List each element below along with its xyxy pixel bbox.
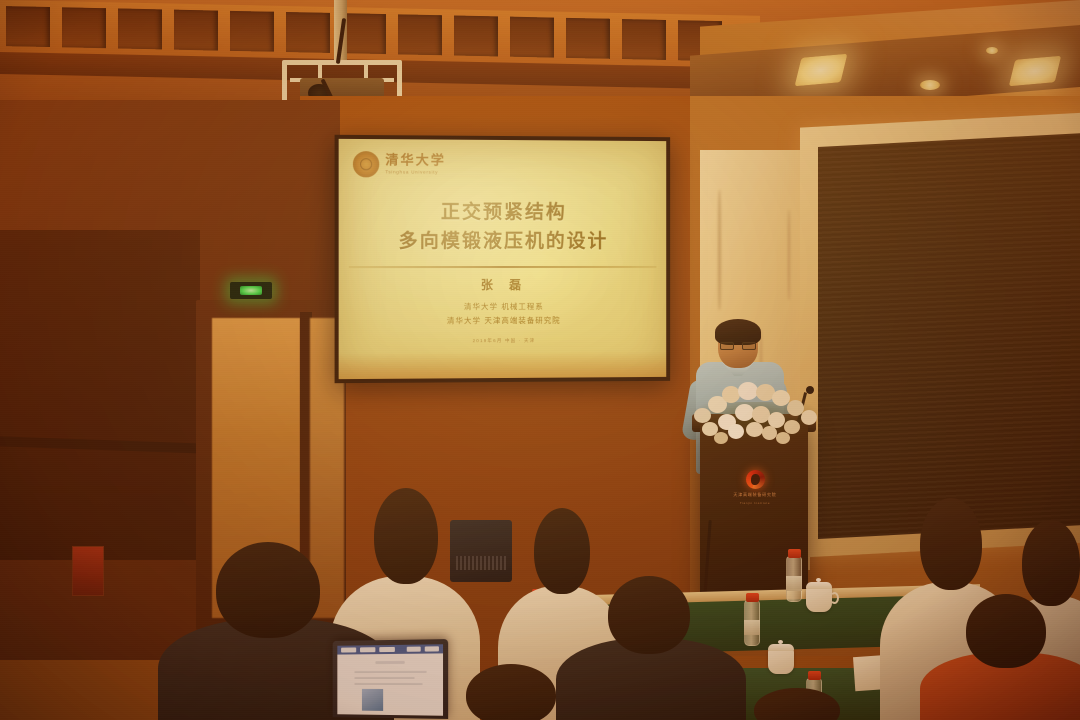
audience-head xyxy=(608,576,690,654)
podium-logo-chinese: 天津高端装备研究院 xyxy=(733,492,776,498)
slide-affiliation-1: 清华大学 机械工程系 xyxy=(339,300,667,315)
presentation-slide: 清华大学 Tsinghua University 正交预紧结构 多向模锻液压机的… xyxy=(339,139,667,379)
page-thumbnail xyxy=(362,689,383,711)
teacup xyxy=(806,586,832,612)
slide-title: 正交预紧结构 多向模锻液压机的设计 xyxy=(339,197,667,256)
bottle-label xyxy=(744,620,760,635)
ceiling-light-panel-2 xyxy=(1009,56,1061,87)
logo-chinese-name: 清华大学 xyxy=(385,154,446,167)
ceiling-light-panel-1 xyxy=(795,54,848,87)
audience-member-orange xyxy=(920,594,1080,720)
slide-affiliation-2: 清华大学 天津高端装备研究院 xyxy=(339,314,667,329)
projection-screen: 清华大学 Tsinghua University 正交预紧结构 多向模锻液压机的… xyxy=(339,139,667,379)
audience-head xyxy=(754,688,840,720)
bottle-cap xyxy=(788,549,801,558)
slide-title-line-1: 正交预紧结构 xyxy=(339,197,667,227)
audience-member-partial-2 xyxy=(744,688,854,720)
tsinghua-seal-icon xyxy=(353,151,379,177)
teacup xyxy=(768,648,794,674)
podium-logo-english: Tianjin Institute xyxy=(740,501,770,505)
slide-divider xyxy=(349,266,657,268)
logo-english-name: Tsinghua University xyxy=(385,170,446,175)
slide-affiliations: 清华大学 机械工程系 清华大学 天津高端装备研究院 xyxy=(339,300,667,330)
screen-bottom-glow xyxy=(339,351,667,379)
exit-sign xyxy=(230,282,272,299)
bottle-label xyxy=(786,576,802,591)
slide-presenter-name: 张 磊 xyxy=(339,276,667,293)
podium-logo: 天津高端装备研究院 Tianjin Institute xyxy=(737,470,773,510)
glasses-icon xyxy=(720,342,756,350)
conference-hall-photo: 清华大学 Tsinghua University 正交预紧结构 多向模锻液压机的… xyxy=(0,0,1080,720)
teacup-lid xyxy=(806,582,832,589)
wall-chair-rail-lower xyxy=(0,486,205,493)
wall-panel-texture xyxy=(818,133,1080,539)
slide-title-line-2: 多向模锻液压机的设计 xyxy=(339,227,667,257)
projection-screen-frame: 清华大学 Tsinghua University 正交预紧结构 多向模锻液压机的… xyxy=(335,135,671,383)
teacup-lid xyxy=(768,644,794,651)
audience-head xyxy=(466,664,556,720)
ceiling-downlight-2 xyxy=(986,47,998,54)
teacup-knob xyxy=(778,640,783,644)
audience-head xyxy=(966,594,1046,668)
audience-member-partial-1 xyxy=(452,664,572,720)
laptop-screen[interactable] xyxy=(337,644,443,716)
bottle-cap xyxy=(746,593,759,602)
teacup-knob xyxy=(816,578,821,582)
exit-sign-glow-icon xyxy=(240,286,262,295)
teacup-handle xyxy=(830,592,839,604)
wall-left-dark-panel xyxy=(0,230,200,560)
bottle-cap xyxy=(808,671,821,680)
audience-head xyxy=(920,498,982,590)
audience-head xyxy=(216,542,320,638)
open-laptop[interactable] xyxy=(330,640,450,720)
slide-date-line: 2019年6月 中国 · 天津 xyxy=(339,337,667,345)
university-logo: 清华大学 Tsinghua University xyxy=(353,151,446,178)
flame-swirl-icon xyxy=(746,470,765,489)
flower-arrangement xyxy=(688,378,824,444)
ceiling-downlight-1 xyxy=(920,80,940,90)
audience-member-black-shirt xyxy=(556,576,746,720)
fire-extinguisher-box xyxy=(72,546,104,596)
